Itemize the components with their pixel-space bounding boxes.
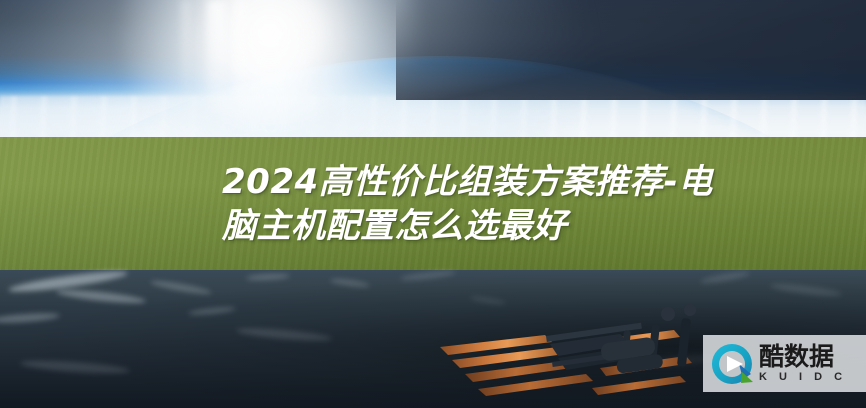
cloud-wisp [150, 279, 212, 297]
sun-ray-3 [182, 0, 189, 118]
cloud-wisp [188, 306, 236, 317]
brand-name-cn: 酷数据 [759, 344, 847, 370]
banner-image: 2024高性价比组装方案推荐-电 脑主机配置怎么选最好 酷数据 [0, 0, 866, 408]
cloud-wisp [330, 277, 370, 289]
play-circle-logo-icon [709, 341, 755, 387]
title-line-2: 脑主机配置怎么选最好 [222, 204, 716, 248]
sky-dark-gradient-right [396, 0, 866, 100]
space-station-illustration [300, 300, 700, 408]
cloud-wisp [770, 282, 842, 299]
watermark-badge: 酷数据 K U I D C [703, 335, 866, 392]
sun-ray-2 [236, 0, 245, 132]
sun-ray-1 [207, 0, 225, 126]
cloud-wisp [700, 270, 750, 286]
cloud-wisp [8, 268, 128, 296]
watermark-text: 酷数据 K U I D C [759, 344, 847, 384]
title-block: 2024高性价比组装方案推荐-电 脑主机配置怎么选最好 [0, 137, 866, 270]
cloud-wisp [246, 273, 290, 281]
cloud-wisp [0, 312, 60, 325]
title-line-1: 2024高性价比组装方案推荐-电 [222, 160, 716, 204]
cloud-wisp [20, 358, 130, 376]
brand-name-en: K U I D C [759, 371, 847, 384]
cloud-wisp [400, 269, 456, 283]
cloud-wisp [56, 287, 146, 305]
sky-background [0, 0, 866, 138]
